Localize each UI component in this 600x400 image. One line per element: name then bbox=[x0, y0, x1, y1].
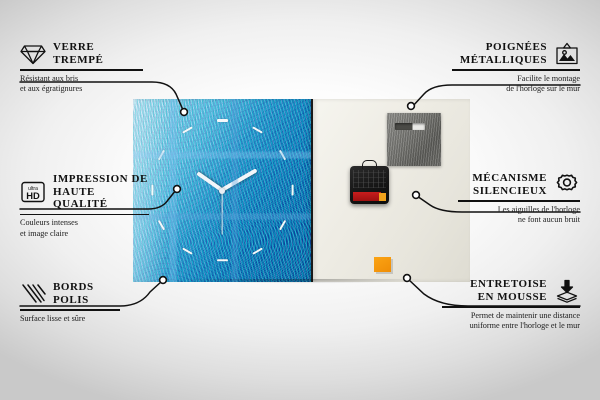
clock-tick bbox=[252, 247, 263, 254]
callout-header: ENTRETOISE EN MOUSSE bbox=[442, 278, 580, 303]
clock-tick bbox=[291, 185, 293, 196]
callout-rule bbox=[20, 69, 143, 71]
callout-rule bbox=[20, 214, 149, 216]
mechanism-chip bbox=[379, 193, 386, 201]
clock-center-cap bbox=[219, 188, 225, 194]
callout-title: VERRE TREMPÉ bbox=[53, 41, 103, 66]
callout-description: Couleurs intenses et image claire bbox=[20, 218, 149, 239]
callout-description: Résistant aux bris et aux égratignures bbox=[20, 74, 143, 95]
callout-description: Les aiguilles de l'horloge ne font aucun… bbox=[458, 205, 580, 226]
clock-tick bbox=[182, 247, 193, 254]
gear-icon bbox=[554, 173, 580, 197]
callout-title: BORDS POLIS bbox=[53, 281, 94, 306]
callout-header: VERRE TREMPÉ bbox=[20, 41, 143, 66]
callout-header: BORDS POLIS bbox=[20, 281, 120, 306]
foam-spacer-arrow-icon bbox=[554, 279, 580, 303]
clock-tick bbox=[252, 126, 263, 133]
clock-second-hand bbox=[221, 190, 222, 234]
clock-tick bbox=[217, 119, 228, 121]
clock-tick bbox=[279, 150, 286, 161]
clock-tick bbox=[182, 126, 193, 133]
foam-spacer bbox=[374, 257, 391, 272]
polished-edges-icon bbox=[20, 282, 46, 306]
callout-title: IMPRESSION DE HAUTE QUALITÉ bbox=[53, 173, 149, 211]
callout-rule bbox=[442, 306, 580, 308]
mechanism-label bbox=[353, 192, 381, 201]
callout-mecanisme-silencieux: MÉCANISME SILENCIEUX Les aiguilles de l'… bbox=[458, 172, 580, 226]
ultra-hd-badge-icon: ultra HD bbox=[20, 180, 46, 204]
callout-rule bbox=[458, 200, 580, 202]
clock-tick bbox=[217, 259, 228, 261]
callout-rule bbox=[20, 309, 120, 311]
clock-tick bbox=[151, 185, 153, 196]
clock-tick bbox=[158, 220, 165, 231]
callout-description: Surface lisse et sûre bbox=[20, 314, 120, 325]
callout-title: ENTRETOISE EN MOUSSE bbox=[470, 278, 547, 303]
mechanism-loop bbox=[362, 160, 377, 169]
clock-hour-hand bbox=[196, 172, 223, 193]
picture-frame-hanger-icon bbox=[554, 42, 580, 66]
callout-entretoise-mousse: ENTRETOISE EN MOUSSE Permet de maintenir… bbox=[442, 278, 580, 332]
hanger-plate bbox=[387, 113, 441, 166]
callout-title: POIGNÉES MÉTALLIQUES bbox=[460, 41, 547, 66]
callout-header: ultra HD IMPRESSION DE HAUTE QUALITÉ bbox=[20, 173, 149, 211]
callout-poignees-metalliques: POIGNÉES MÉTALLIQUES Facilite le montage… bbox=[452, 41, 580, 95]
callout-header: POIGNÉES MÉTALLIQUES bbox=[452, 41, 580, 66]
product-shadow bbox=[135, 279, 470, 288]
clock-minute-hand bbox=[221, 169, 258, 193]
clock-tick bbox=[279, 220, 286, 231]
badge-hd-text: HD bbox=[26, 190, 40, 201]
callout-verre-trempe: VERRE TREMPÉ Résistant aux bris et aux é… bbox=[20, 41, 143, 95]
hanger-slot bbox=[395, 123, 425, 130]
clock-back-panel bbox=[311, 99, 470, 282]
callout-impression-hd: ultra HD IMPRESSION DE HAUTE QUALITÉ Cou… bbox=[20, 173, 149, 239]
clock-mechanism bbox=[350, 166, 389, 204]
infographic-canvas: VERRE TREMPÉ Résistant aux bris et aux é… bbox=[0, 0, 600, 400]
callout-bords-polis: BORDS POLIS Surface lisse et sûre bbox=[20, 281, 120, 324]
callout-rule bbox=[452, 69, 580, 71]
callout-title: MÉCANISME SILENCIEUX bbox=[472, 172, 547, 197]
product-image bbox=[133, 99, 470, 282]
callout-description: Facilite le montage de l'horloge sur le … bbox=[452, 74, 580, 95]
diamond-icon bbox=[20, 42, 46, 66]
callout-description: Permet de maintenir une distance uniform… bbox=[442, 311, 580, 332]
mechanism-grid bbox=[353, 170, 386, 188]
clock-tick bbox=[158, 150, 165, 161]
clock-face-panel bbox=[133, 99, 311, 282]
callout-header: MÉCANISME SILENCIEUX bbox=[458, 172, 580, 197]
